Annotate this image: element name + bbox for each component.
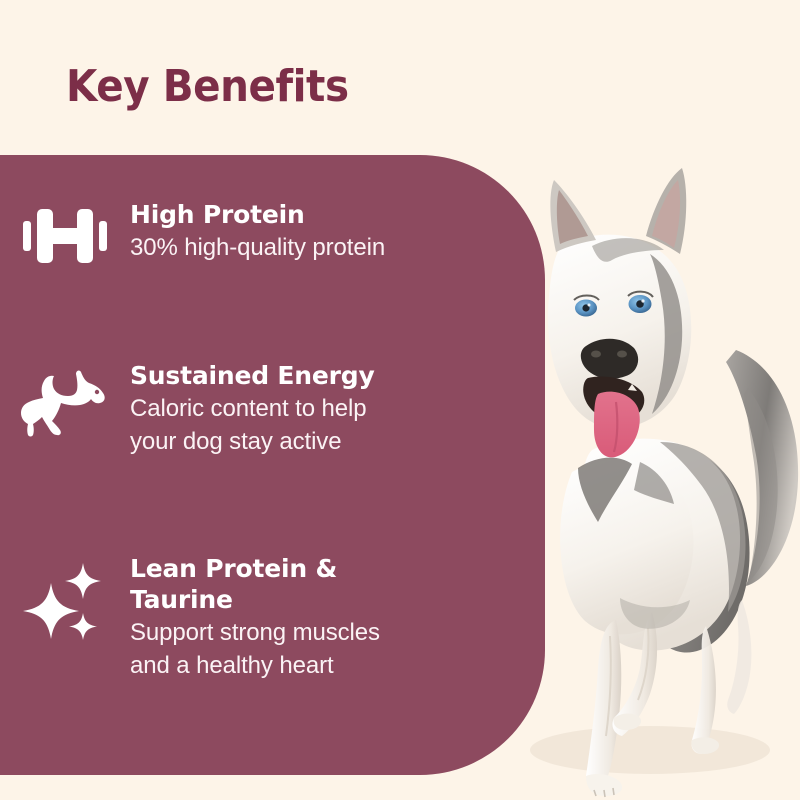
product-benefits-graphic: Key Benefits bbox=[0, 0, 800, 800]
benefit-item-sustained-energy: Sustained Energy Caloric content to help… bbox=[0, 360, 480, 458]
benefit-heading: Lean Protein & Taurine bbox=[130, 553, 420, 615]
benefits-panel: High Protein 30% high-quality protein Su… bbox=[0, 155, 545, 775]
benefit-item-high-protein: High Protein 30% high-quality protein bbox=[0, 199, 480, 267]
benefits-list: High Protein 30% high-quality protein Su… bbox=[0, 155, 480, 775]
page-title: Key Benefits bbox=[66, 61, 349, 113]
sparkles-icon bbox=[0, 553, 130, 647]
dumbbell-icon bbox=[0, 199, 130, 267]
benefit-text-lean-protein-taurine: Lean Protein & Taurine Support strong mu… bbox=[130, 553, 480, 682]
husky-dog-photo bbox=[500, 150, 800, 800]
benefit-item-lean-protein-taurine: Lean Protein & Taurine Support strong mu… bbox=[0, 553, 480, 682]
benefit-description: Support strong muscles and a healthy hea… bbox=[130, 616, 400, 682]
running-dog-icon bbox=[0, 360, 130, 438]
benefit-heading: Sustained Energy bbox=[130, 360, 420, 391]
benefit-text-sustained-energy: Sustained Energy Caloric content to help… bbox=[130, 360, 480, 458]
benefit-heading: High Protein bbox=[130, 199, 420, 230]
benefit-description: Caloric content to help your dog stay ac… bbox=[130, 392, 400, 458]
benefit-description: 30% high-quality protein bbox=[130, 231, 400, 264]
benefit-text-high-protein: High Protein 30% high-quality protein bbox=[130, 199, 480, 264]
